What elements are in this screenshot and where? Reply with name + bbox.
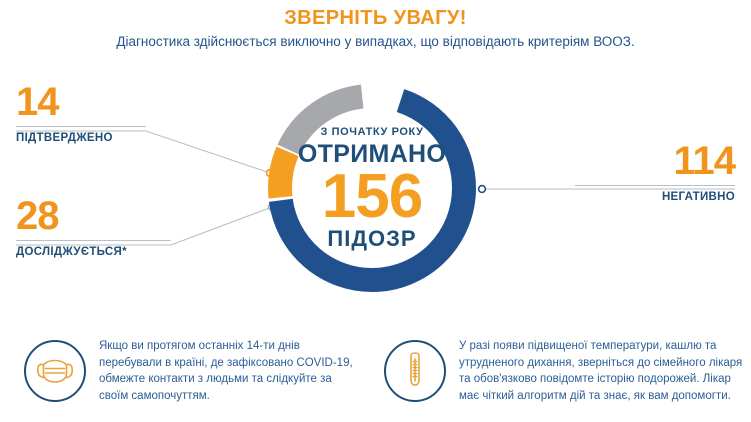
face-mask-icon [24, 340, 86, 402]
stat-investigated: 28 ДОСЛІДЖУЄТЬСЯ* [16, 196, 171, 258]
stat-negative-rule [575, 185, 735, 186]
stat-negative-value: 114 [575, 141, 735, 181]
stat-negative: 114 НЕГАТИВНО [575, 141, 735, 203]
header: ЗВЕРНІТЬ УВАГУ! Діагностика здійснюється… [0, 6, 751, 53]
stat-confirmed: 14 ПІДТВЕРДЖЕНО [16, 82, 146, 144]
donut-chart-svg [262, 78, 482, 298]
advice-card-mask: Якщо ви протягом останніх 14-ти днів пер… [24, 336, 364, 404]
stat-investigated-rule [16, 240, 171, 241]
stat-negative-label: НЕГАТИВНО [575, 191, 735, 203]
advice-thermometer-text: У разі появи підвищеної температури, каш… [459, 336, 744, 404]
advice-mask-text: Якщо ви протягом останніх 14-ти днів пер… [99, 336, 364, 404]
stat-investigated-label: ДОСЛІДЖУЄТЬСЯ* [16, 246, 171, 258]
advice-card-thermometer: У разі появи підвищеної температури, каш… [384, 336, 744, 404]
stat-confirmed-value: 14 [16, 82, 146, 122]
stat-confirmed-label: ПІДТВЕРДЖЕНО [16, 132, 146, 144]
stat-confirmed-rule [16, 126, 146, 127]
stat-investigated-value: 28 [16, 196, 171, 236]
page-title: ЗВЕРНІТЬ УВАГУ! [0, 6, 751, 30]
thermometer-icon [384, 340, 446, 402]
page-subtitle: Діагностика здійснюється виключно у випа… [0, 31, 751, 53]
donut-chart: З ПОЧАТКУ РОКУ ОТРИМАНО 156 ПІДОЗР [262, 78, 482, 298]
